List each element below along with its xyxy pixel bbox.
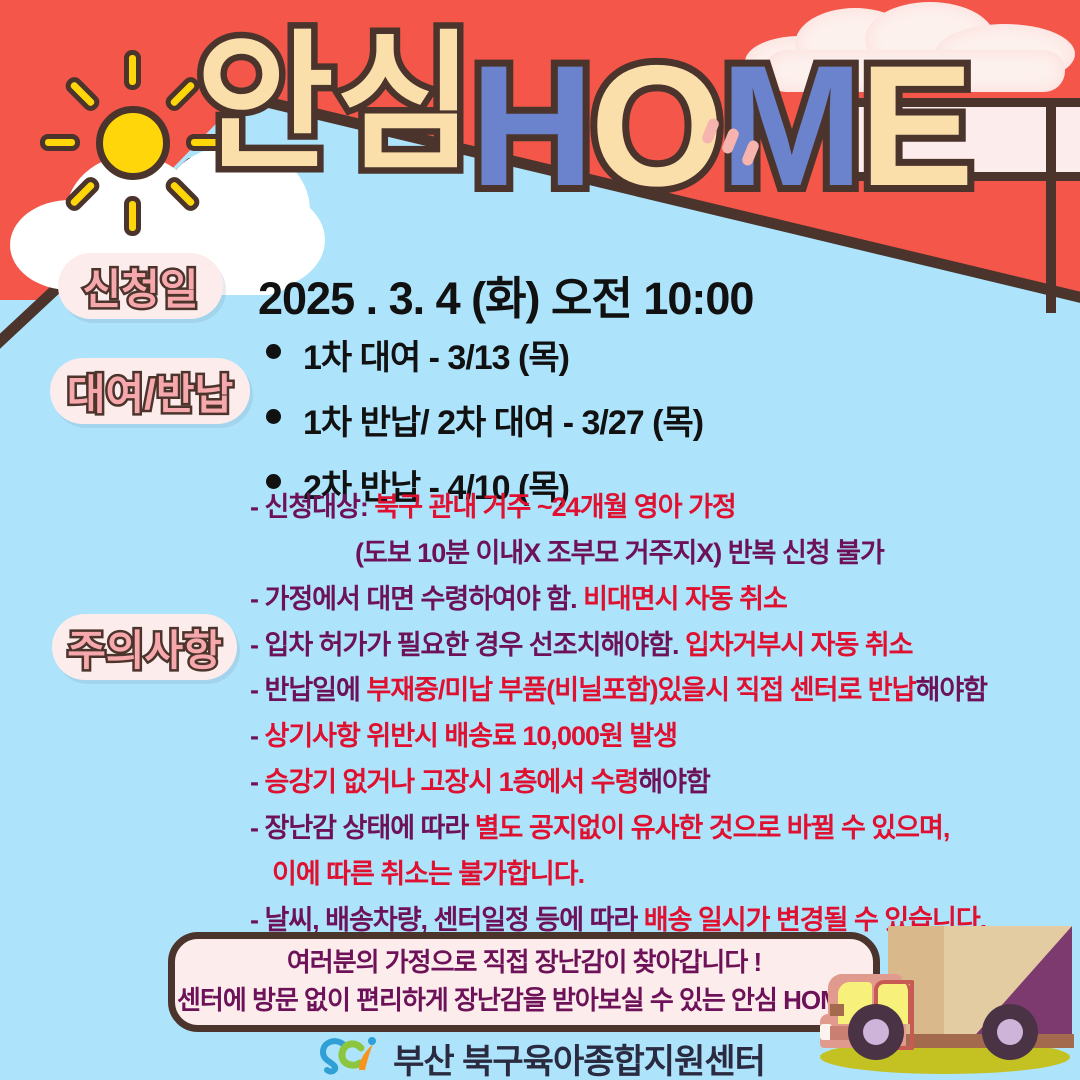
notice-text: - 입차 허가가 필요한 경우 선조치해야함. — [250, 630, 685, 660]
apply-date-value: 2025 . 3. 4 (화) 오전 10:00 — [258, 262, 753, 327]
footer-organization: 부산 북구육아종합지원센터 — [393, 1034, 765, 1080]
notice-highlight-text: 비대면시 자동 취소 — [583, 584, 787, 614]
notice-text: - — [250, 767, 265, 797]
notice-highlight-text: 북구 관내 거주 ~24개월 영아 가정 — [374, 492, 735, 522]
title-letter-o: O — [590, 30, 720, 222]
poster-root: 안심 HOME 신청일 대여/반납 주의사항 2025 . 3. 4 (화) 오… — [0, 0, 1080, 1080]
bullet-dot-icon — [266, 474, 281, 489]
notice-text: - — [250, 721, 265, 751]
bullet-dot-icon — [266, 409, 281, 424]
notice-row: - 가정에서 대면 수령하여야 함. 비대면시 자동 취소 — [250, 584, 1050, 616]
delivery-truck-icon — [812, 922, 1080, 1080]
message-line-2: 센터에 방문 없이 편리하게 장난감을 받아보실 수 있는 안심 HOME ! — [177, 982, 871, 1020]
notice-row: - 신청대상: 북구 관내 거주 ~24개월 영아 가정 — [250, 492, 1050, 524]
notice-row: 이에 따른 취소는 불가합니다. — [250, 859, 1050, 891]
schedule-text: 1차 대여 - 3/13 (목) — [303, 330, 569, 379]
notice-row: (도보 10분 이내X 조부모 거주지X) 반복 신청 불가 — [250, 538, 1050, 570]
page-title-english: HOME — [470, 40, 970, 212]
notice-highlight-text: 입차거부시 자동 취소 — [685, 630, 913, 660]
title-letter-e: E — [859, 30, 970, 222]
notice-row: - 입차 허가가 필요한 경우 선조치해야함. 입차거부시 자동 취소 — [250, 630, 1050, 662]
notice-text: - 장난감 상태에 따라 — [250, 813, 475, 843]
notice-highlight-text: 상기사항 위반시 배송료 10,000원 발생 — [265, 721, 678, 751]
notice-row: - 장난감 상태에 따라 별도 공지없이 유사한 것으로 바뀔 수 있으며, — [250, 813, 1050, 845]
schedule-text: 1차 반납/ 2차 대여 - 3/27 (목) — [303, 395, 703, 444]
notice-highlight-text: 승강기 없거나 고장시 1층에서 수령 — [265, 767, 639, 797]
notice-highlight-text: 이에 따른 취소는 불가합니다. — [272, 859, 584, 889]
notice-text: 해야함 — [638, 767, 710, 797]
list-item: 1차 반납/ 2차 대여 - 3/27 (목) — [258, 395, 998, 444]
label-apply-date: 신청일 — [58, 253, 223, 319]
notice-text: (도보 10분 이내X 조부모 거주지X) 반복 신청 불가 — [355, 538, 884, 568]
notice-text: - 반납일에 — [250, 675, 366, 705]
message-box: 여러분의 가정으로 직접 장난감이 찾아갑니다 ! 센터에 방문 없이 편리하게… — [168, 932, 880, 1032]
page-title-korean: 안심 — [196, 28, 476, 178]
notice-row: - 반납일에 부재중/미납 부품(비닐포함)있을시 직접 센터로 반납해야함 — [250, 675, 1050, 707]
notice-highlight-text: 별도 공지없이 유사한 것으로 바뀔 수 있으며, — [475, 813, 950, 843]
label-rent-return: 대여/반납 — [50, 358, 250, 424]
title-letter-h: H — [470, 30, 590, 222]
label-notice: 주의사항 — [52, 614, 237, 680]
notice-row: - 승강기 없거나 고장시 1층에서 수령해야함 — [250, 767, 1050, 799]
notice-list: - 신청대상: 북구 관내 거주 ~24개월 영아 가정(도보 10분 이내X … — [250, 492, 1050, 951]
bullet-dot-icon — [266, 344, 281, 359]
list-item: 1차 대여 - 3/13 (목) — [258, 330, 998, 379]
house-right-edge — [1046, 98, 1056, 313]
title-letter-m: M — [720, 30, 859, 222]
notice-text: - 날씨, 배송차량, 센터일정 등에 따라 — [250, 905, 644, 935]
notice-text: - 가정에서 대면 수령하여야 함. — [250, 584, 583, 614]
notice-highlight-text: 부재중/미납 부품(비닐포함)있을시 직접 센터로 반납 — [366, 675, 915, 705]
notice-text: - 신청대상: — [250, 492, 374, 522]
notice-text: 해야함 — [916, 675, 988, 705]
notice-row: - 상기사항 위반시 배송료 10,000원 발생 — [250, 721, 1050, 753]
message-line-1: 여러분의 가정으로 직접 장난감이 찾아갑니다 ! — [287, 944, 761, 982]
sc-logo-icon — [315, 1036, 379, 1080]
